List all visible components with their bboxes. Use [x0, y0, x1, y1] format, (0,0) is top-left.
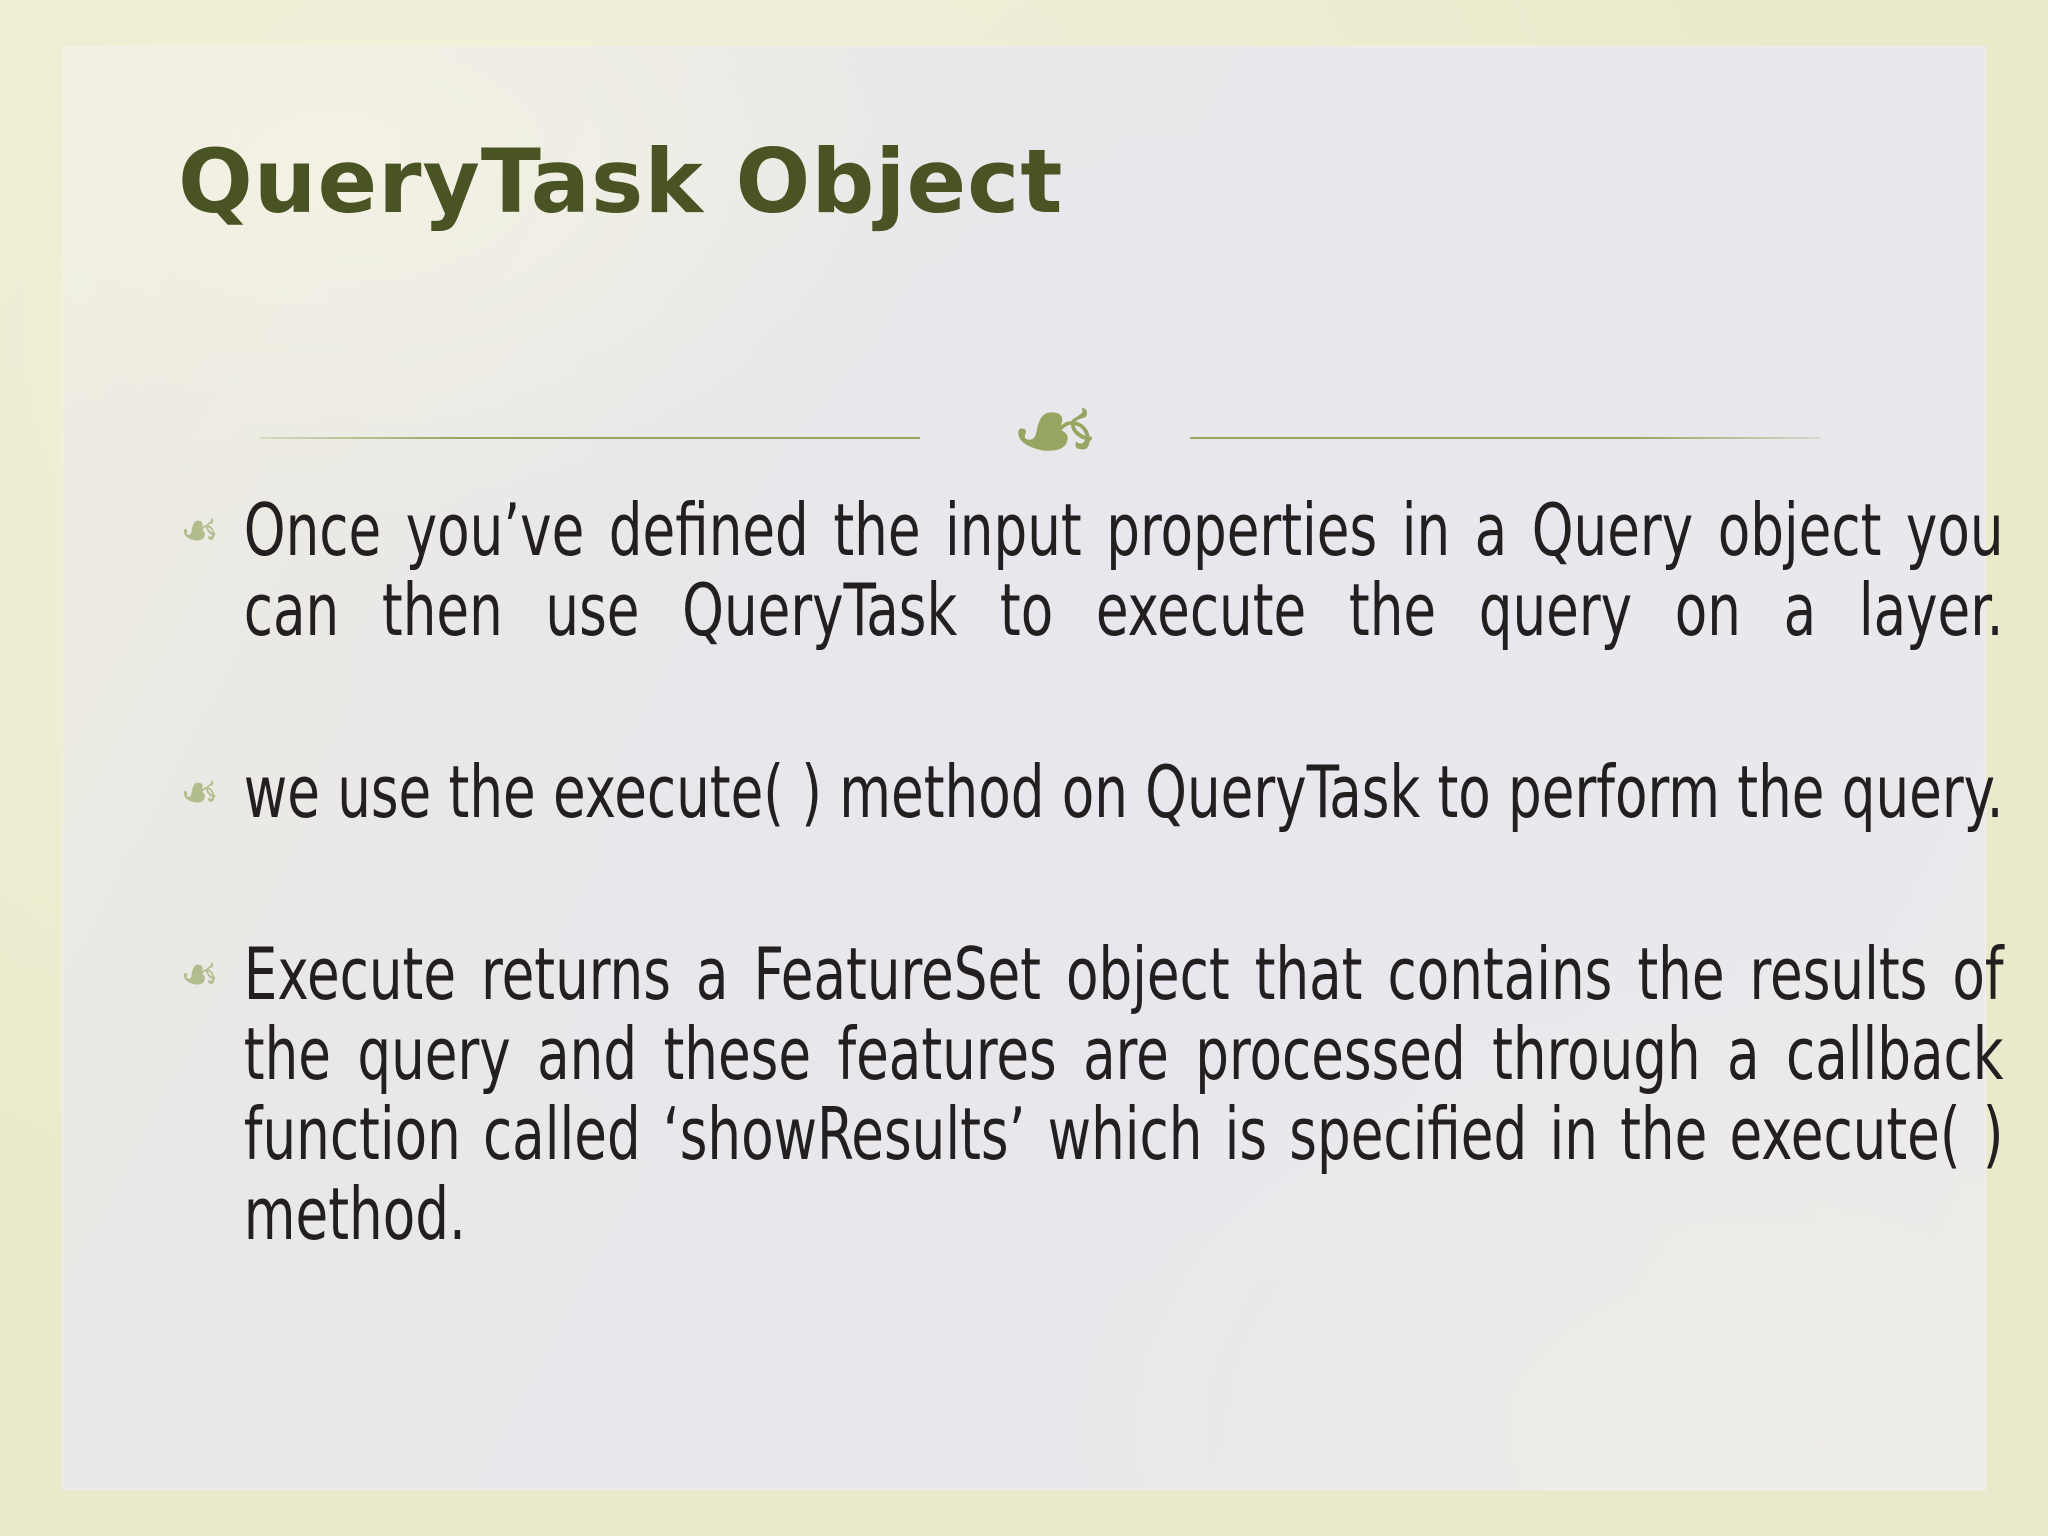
list-item-text: we use the execute( ) method on QueryTas… [244, 752, 2004, 912]
list-item: ❧ Execute returns a FeatureSet object th… [170, 934, 2004, 1334]
presentation-slide: QueryTask Object ❧ ❧ Once you’ve defined… [0, 0, 2048, 1536]
list-item-text: Execute returns a FeatureSet object that… [244, 934, 2004, 1334]
divider-rule-left [260, 437, 920, 439]
list-item: ❧ we use the execute( ) method on QueryT… [170, 752, 2004, 912]
bullet-ornament-icon: ❧ [170, 494, 229, 570]
title-divider: ❧ [260, 408, 1820, 468]
bullet-ornament-icon: ❧ [170, 938, 229, 1014]
divider-rule-right [1190, 437, 1820, 439]
list-item: ❧ Once you’ve defined the input properti… [170, 490, 2004, 730]
page-title: QueryTask Object [178, 136, 1778, 228]
bullet-list: ❧ Once you’ve defined the input properti… [170, 490, 1930, 1356]
bullet-ornament-icon: ❧ [170, 756, 229, 832]
list-item-text: Once you’ve defined the input properties… [244, 490, 2004, 730]
floral-ornament-icon: ❧ [920, 378, 1190, 488]
slide-content: QueryTask Object ❧ ❧ Once you’ve defined… [0, 0, 2048, 1536]
